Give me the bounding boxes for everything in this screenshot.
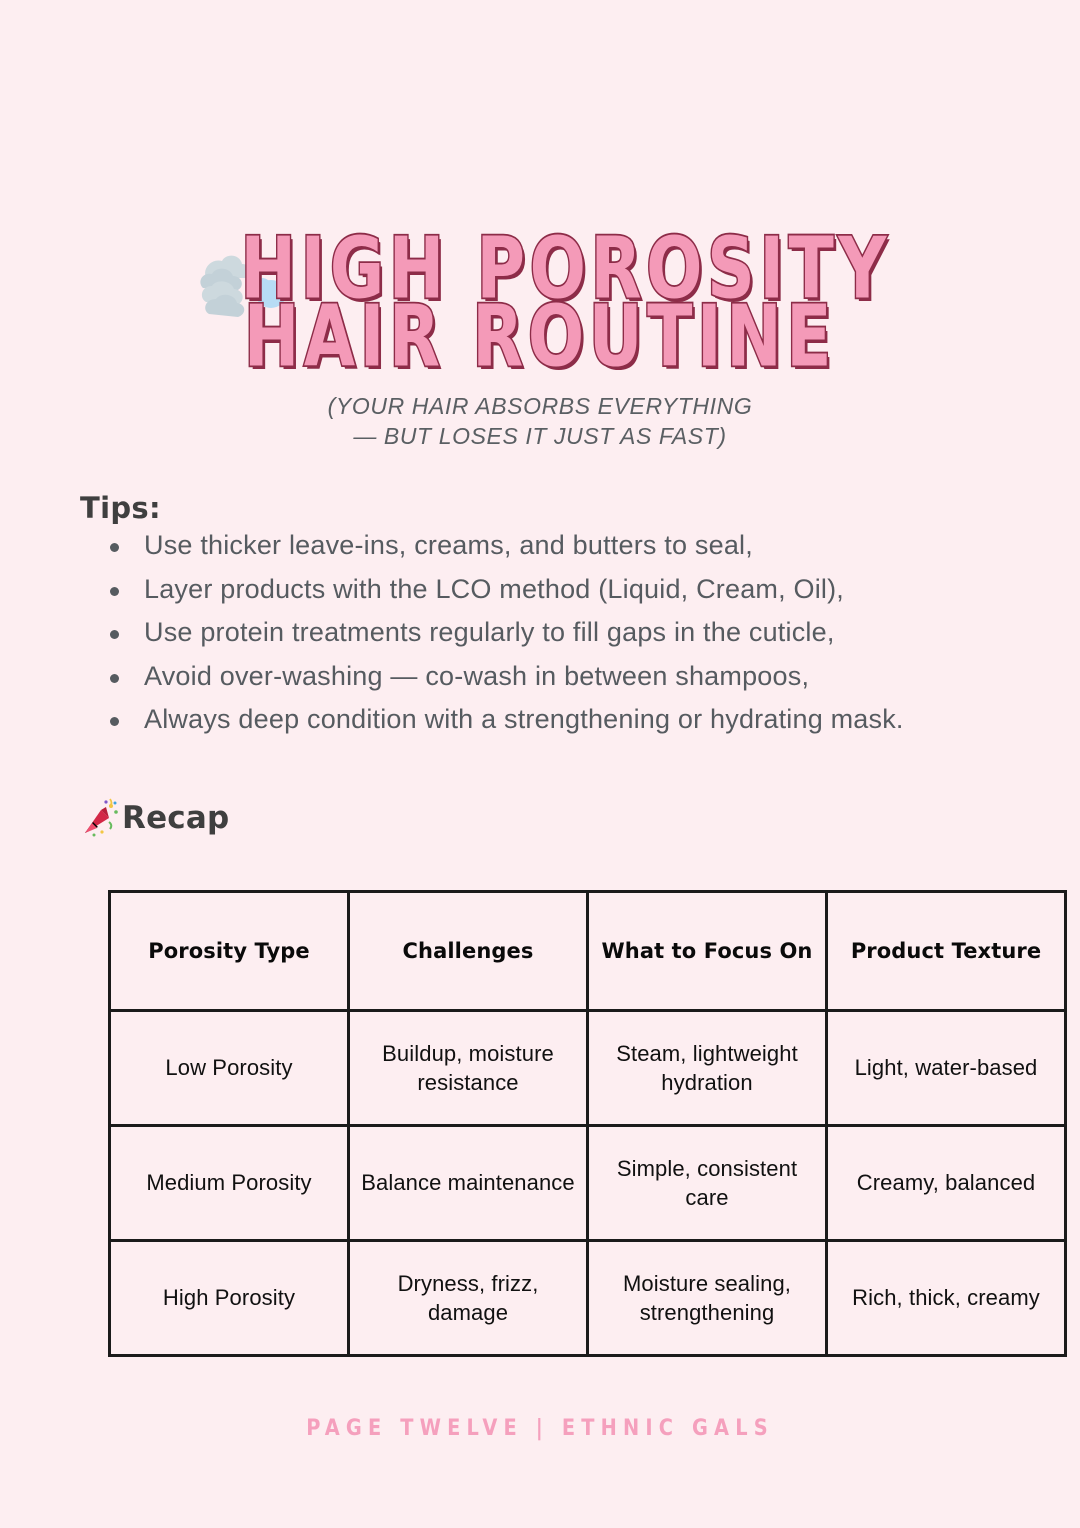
- table-cell: Moisture sealing, strengthening: [588, 1241, 827, 1356]
- list-item: Use protein treatments regularly to fill…: [96, 619, 1016, 646]
- bullet-icon: [110, 717, 119, 726]
- page-subtitle: (YOUR HAIR ABSORBS EVERYTHING — BUT LOSE…: [0, 391, 1080, 452]
- recap-heading: Recap: [80, 798, 229, 838]
- title-line-2: HAIR ROUTINE: [43, 296, 1037, 377]
- table-cell: Dryness, frizz, damage: [349, 1241, 588, 1356]
- table-cell: Simple, consistent care: [588, 1126, 827, 1241]
- table-cell: High Porosity: [110, 1241, 349, 1356]
- page-title: HIGH POROSITY HAIR ROUTINE: [0, 228, 1080, 365]
- table-row: Medium Porosity Balance maintenance Simp…: [110, 1126, 1066, 1241]
- subtitle-line-1: (YOUR HAIR ABSORBS EVERYTHING: [0, 391, 1080, 422]
- table-cell: Light, water-based: [827, 1011, 1066, 1126]
- tip-text: Layer products with the LCO method (Liqu…: [144, 574, 844, 604]
- table-head: Porosity Type Challenges What to Focus O…: [110, 892, 1066, 1011]
- table-cell: Medium Porosity: [110, 1126, 349, 1241]
- bullet-icon: [110, 630, 119, 639]
- tips-list: Use thicker leave-ins, creams, and butte…: [96, 532, 1016, 750]
- column-header-what-to-focus-on: What to Focus On: [588, 892, 827, 1011]
- bullet-icon: [110, 587, 119, 596]
- table-row: High Porosity Dryness, frizz, damage Moi…: [110, 1241, 1066, 1356]
- column-header-challenges: Challenges: [349, 892, 588, 1011]
- page-footer: PAGE TWELVE | ETHNIC GALS: [65, 1416, 1015, 1441]
- table-cell: Balance maintenance: [349, 1126, 588, 1241]
- table-cell: Rich, thick, creamy: [827, 1241, 1066, 1356]
- column-header-porosity-type: Porosity Type: [110, 892, 349, 1011]
- list-item: Layer products with the LCO method (Liqu…: [96, 576, 1016, 603]
- list-item: Use thicker leave-ins, creams, and butte…: [96, 532, 1016, 559]
- tips-heading: Tips:: [80, 491, 161, 525]
- table-cell: Low Porosity: [110, 1011, 349, 1126]
- page-canvas: HIGH POROSITY HAIR ROUTINE (YOUR HAIR AB…: [0, 0, 1080, 1528]
- tip-text: Use protein treatments regularly to fill…: [144, 617, 835, 647]
- table-cell: Buildup, moisture resistance: [349, 1011, 588, 1126]
- tip-text: Avoid over-washing — co-wash in between …: [144, 661, 809, 691]
- list-item: Always deep condition with a strengtheni…: [96, 706, 1016, 733]
- bullet-icon: [110, 543, 119, 552]
- table-header-row: Porosity Type Challenges What to Focus O…: [110, 892, 1066, 1011]
- party-popper-icon: [80, 798, 120, 838]
- recap-table: Porosity Type Challenges What to Focus O…: [108, 890, 1067, 1357]
- table-cell: Steam, lightweight hydration: [588, 1011, 827, 1126]
- table-row: Low Porosity Buildup, moisture resistanc…: [110, 1011, 1066, 1126]
- table-body: Low Porosity Buildup, moisture resistanc…: [110, 1011, 1066, 1356]
- header-block: HIGH POROSITY HAIR ROUTINE (YOUR HAIR AB…: [0, 228, 1080, 452]
- tip-text: Always deep condition with a strengtheni…: [144, 704, 904, 734]
- column-header-product-texture: Product Texture: [827, 892, 1066, 1011]
- list-item: Avoid over-washing — co-wash in between …: [96, 663, 1016, 690]
- tip-text: Use thicker leave-ins, creams, and butte…: [144, 530, 753, 560]
- table-cell: Creamy, balanced: [827, 1126, 1066, 1241]
- subtitle-line-2: — BUT LOSES IT JUST AS FAST): [0, 421, 1080, 452]
- bullet-icon: [110, 674, 119, 683]
- recap-label: Recap: [122, 800, 229, 836]
